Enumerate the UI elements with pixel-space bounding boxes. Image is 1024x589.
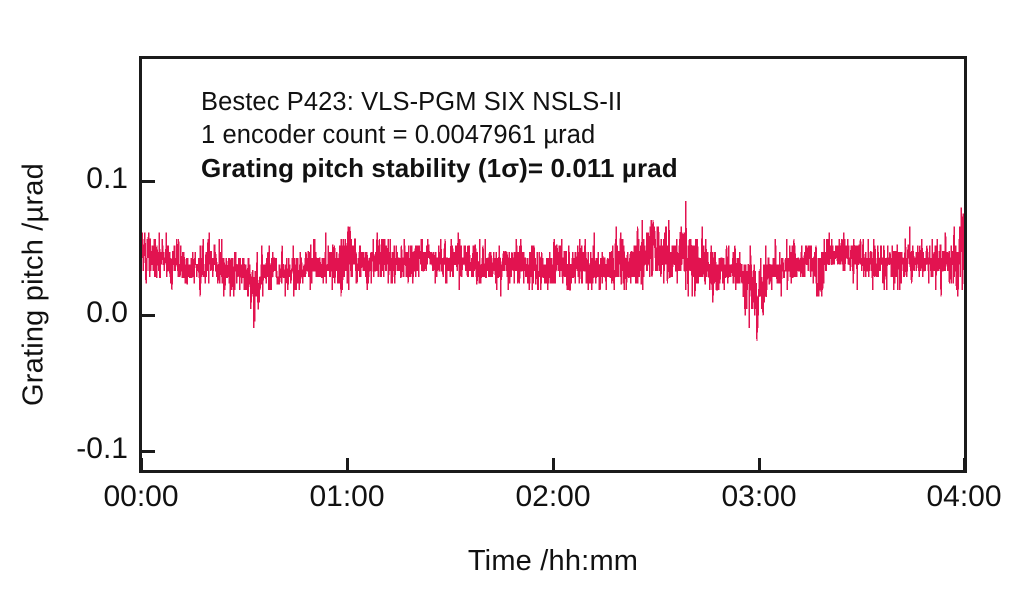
y-axis-title: Grating pitch /µrad <box>18 105 51 465</box>
annotation-line-3: Grating pitch stability (1σ)= 0.011 µrad <box>201 152 678 186</box>
chart-annotation: Bestec P423: VLS-PGM SIX NSLS-II 1 encod… <box>201 86 678 186</box>
y-tick-label-2: -0.1 <box>0 432 128 466</box>
x-tick-mark-1 <box>346 458 349 473</box>
x-tick-label-3: 03:00 <box>669 480 849 514</box>
annotation-line-2: 1 encoder count = 0.0047961 µrad <box>201 119 678 152</box>
y-tick-label-0: 0.1 <box>0 162 128 196</box>
annotation-line-1: Bestec P423: VLS-PGM SIX NSLS-II <box>201 86 678 119</box>
y-tick-mark-0 <box>139 180 155 183</box>
y-tick-mark-1 <box>139 314 155 317</box>
x-tick-mark-4 <box>963 458 966 473</box>
x-tick-mark-2 <box>552 458 555 473</box>
x-tick-label-1: 01:00 <box>257 480 437 514</box>
x-tick-mark-3 <box>758 458 761 473</box>
x-tick-label-0: 00:00 <box>51 480 231 514</box>
y-tick-label-1: 0.0 <box>0 296 128 330</box>
x-tick-label-2: 02:00 <box>463 480 643 514</box>
x-axis-title: Time /hh:mm <box>139 545 967 578</box>
x-tick-label-4: 04:00 <box>874 480 1024 514</box>
figure-container: Grating pitch /µrad 0.1 0.0 -0.1 00:00 0… <box>0 0 1024 589</box>
x-tick-mark-0 <box>140 458 143 473</box>
y-tick-mark-2 <box>139 450 155 453</box>
